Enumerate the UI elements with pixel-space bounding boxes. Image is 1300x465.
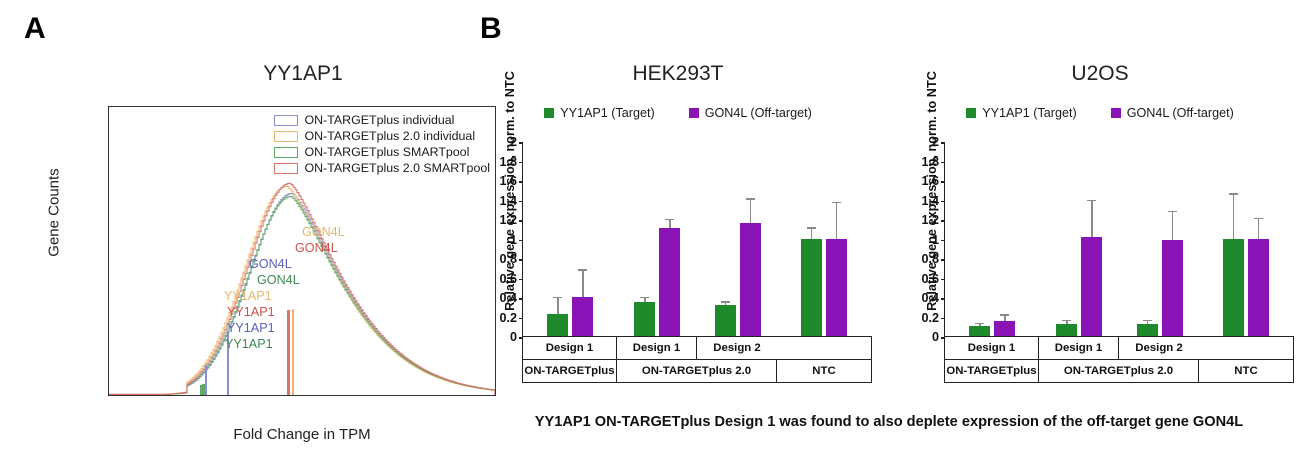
chart-category-tier-designs: Design 1Design 1Design 2	[522, 337, 872, 360]
histogram-gene-label: GON4L	[257, 273, 300, 287]
chart-plot-area: 00.20.40.60.811.21.41.61.82	[522, 142, 872, 337]
chart-error-bar	[1258, 219, 1259, 239]
chart-bar[interactable]	[659, 228, 680, 336]
chart-legend-item[interactable]: GON4L (Off-target)	[1111, 106, 1234, 120]
histogram-legend-label: ON-TARGETplus 2.0 individual	[305, 129, 476, 143]
histogram-x-tick-mark	[289, 395, 290, 396]
chart-error-bar-cap	[1000, 314, 1009, 315]
histogram-gene-label: YY1AP1	[227, 305, 275, 319]
histogram-curve	[109, 193, 495, 395]
chart-error-bar	[1066, 321, 1067, 323]
chart-error-bar	[644, 298, 645, 302]
chart-legend-item[interactable]: GON4L (Off-target)	[689, 106, 812, 120]
chart-design-label	[1199, 337, 1293, 359]
histogram-y-tick-mark	[108, 251, 109, 252]
chart-y-tick-label: 2	[477, 135, 517, 149]
chart-error-bar-cap	[1229, 193, 1238, 194]
chart-error-bar-cap	[807, 227, 816, 228]
histogram-y-tick-mark	[108, 179, 109, 180]
histogram-gene-label: GON4L	[249, 257, 292, 271]
histogram-gene-marker-line	[205, 365, 207, 395]
chart-error-bar-cap	[1087, 200, 1096, 201]
chart-bar-group	[1130, 142, 1190, 336]
chart-bar[interactable]	[715, 305, 736, 336]
chart-y-tick-label: 2	[899, 135, 939, 149]
chart-bar[interactable]	[969, 326, 990, 336]
chart-error-bar-cap	[721, 301, 730, 302]
chart-error-bar-cap	[553, 297, 562, 298]
chart-y-tick-label: 1.4	[899, 194, 939, 208]
chart-bar[interactable]	[1248, 239, 1269, 337]
histogram-gene-marker-line	[292, 309, 294, 395]
chart-y-tick-label: 1.2	[477, 213, 517, 227]
chart-error-bar-cap	[1062, 320, 1071, 321]
chart-error-bar	[750, 200, 751, 223]
histogram-gene-label: GON4L	[302, 225, 345, 239]
panel-a-letter: A	[24, 14, 46, 44]
panel-a-histogram: YY1AP1 Gene Counts 200017501500125010007…	[18, 62, 478, 442]
legend-swatch-icon	[274, 115, 298, 126]
chart-group-header: NTC	[1199, 360, 1293, 382]
chart-y-tick-label: 0.8	[899, 252, 939, 266]
chart-bar[interactable]	[1081, 237, 1102, 336]
chart-y-tick-label: 0.2	[899, 311, 939, 325]
chart-legend-label: YY1AP1 (Target)	[982, 106, 1077, 120]
histogram-gene-label: GON4L	[295, 241, 338, 255]
histogram-title: YY1AP1	[108, 62, 498, 86]
figure-caption: YY1AP1 ON-TARGETplus Design 1 was found …	[478, 414, 1300, 430]
chart-bar[interactable]	[1162, 240, 1183, 336]
chart-error-bar	[811, 229, 812, 239]
panel-b-letter: B	[480, 14, 502, 44]
chart-y-tick-label: 0.4	[477, 291, 517, 305]
histogram-legend-item[interactable]: ON-TARGETplus individual	[274, 113, 490, 127]
chart-legend-item[interactable]: YY1AP1 (Target)	[966, 106, 1077, 120]
chart-legend-label: GON4L (Off-target)	[705, 106, 812, 120]
chart-y-tick-label: 1.6	[477, 174, 517, 188]
chart-legend: YY1AP1 (Target)GON4L (Off-target)	[900, 106, 1300, 120]
chart-bar[interactable]	[634, 302, 655, 336]
chart-error-bar-cap	[1168, 211, 1177, 212]
chart-design-label: Design 1	[945, 337, 1039, 359]
chart-error-bar	[1091, 201, 1092, 236]
chart-y-tick-label: 0	[899, 330, 939, 344]
chart-error-bar-cap	[665, 219, 674, 220]
chart-design-label: Design 1	[1039, 337, 1119, 359]
histogram-legend: ON-TARGETplus individualON-TARGETplus 2.…	[274, 113, 490, 175]
chart-title: HEK293T	[478, 62, 878, 86]
chart-u2os: U2OS YY1AP1 (Target)GON4L (Off-target) R…	[900, 62, 1300, 407]
chart-bar-group	[627, 142, 687, 336]
chart-y-tick-label: 1.4	[477, 194, 517, 208]
chart-error-bar-cap	[1254, 218, 1263, 219]
chart-y-tick-label: 1.8	[477, 155, 517, 169]
histogram-gene-label: YY1AP1	[225, 337, 273, 351]
histogram-curve	[109, 186, 495, 395]
chart-error-bar	[1172, 212, 1173, 240]
chart-bar[interactable]	[801, 239, 822, 337]
histogram-legend-item[interactable]: ON-TARGETplus 2.0 individual	[274, 129, 490, 143]
histogram-y-tick-mark	[108, 359, 109, 360]
chart-legend-item[interactable]: YY1AP1 (Target)	[544, 106, 655, 120]
chart-design-label: Design 1	[617, 337, 697, 359]
chart-group-header: ON-TARGETplus 2.0	[617, 360, 777, 382]
chart-error-bar-cap	[746, 198, 755, 199]
chart-bar-group	[962, 142, 1022, 336]
chart-y-tick-label: 0.6	[477, 272, 517, 286]
chart-bar[interactable]	[547, 314, 568, 336]
chart-bar-group	[708, 142, 768, 336]
chart-legend-label: GON4L (Off-target)	[1127, 106, 1234, 120]
chart-error-bar-cap	[975, 323, 984, 324]
histogram-plot-area: 2000175015001250100075050025000100101 GO…	[108, 106, 496, 396]
chart-error-bar-cap	[1143, 320, 1152, 321]
histogram-x-axis-label: Fold Change in TPM	[108, 426, 496, 443]
chart-y-tick-label: 0.8	[477, 252, 517, 266]
legend-swatch-icon	[274, 163, 298, 174]
histogram-legend-item[interactable]: ON-TARGETplus 2.0 SMARTpool	[274, 161, 490, 175]
chart-title: U2OS	[900, 62, 1300, 86]
histogram-curve	[109, 183, 495, 395]
chart-y-tick-label: 1.2	[899, 213, 939, 227]
chart-error-bar	[1233, 195, 1234, 239]
chart-plot-area: 00.20.40.60.811.21.41.61.82	[944, 142, 1294, 337]
chart-y-tick-label: 0.4	[899, 291, 939, 305]
histogram-y-tick-mark	[108, 143, 109, 144]
chart-category-tier-designs: Design 1Design 1Design 2	[944, 337, 1294, 360]
histogram-y-tick-mark	[108, 395, 109, 396]
chart-error-bar	[1147, 321, 1148, 324]
chart-y-tick-label: 0.6	[899, 272, 939, 286]
chart-group-header: ON-TARGETplus 2.0	[1039, 360, 1199, 382]
histogram-y-axis-label: Gene Counts	[46, 73, 63, 353]
chart-design-label: Design 2	[1119, 337, 1199, 359]
legend-swatch-icon	[274, 147, 298, 158]
chart-error-bar	[979, 324, 980, 326]
chart-hek293t: HEK293T YY1AP1 (Target)GON4L (Off-target…	[478, 62, 878, 407]
histogram-y-tick-mark	[108, 215, 109, 216]
chart-bar-group	[794, 142, 854, 336]
histogram-gene-marker-line	[202, 384, 204, 395]
legend-swatch-icon	[689, 108, 699, 118]
chart-group-header: ON-TARGETplus	[523, 360, 617, 382]
histogram-legend-label: ON-TARGETplus SMARTpool	[305, 145, 470, 159]
chart-error-bar	[582, 271, 583, 297]
chart-error-bar	[557, 298, 558, 314]
legend-swatch-icon	[1111, 108, 1121, 118]
histogram-legend-label: ON-TARGETplus 2.0 SMARTpool	[305, 161, 490, 175]
chart-category-tier-groups: ON-TARGETplusON-TARGETplus 2.0NTC	[522, 360, 872, 383]
chart-design-label	[777, 337, 871, 359]
chart-error-bar	[669, 220, 670, 228]
chart-error-bar-cap	[640, 297, 649, 298]
histogram-gene-marker-line	[287, 310, 289, 395]
legend-swatch-icon	[544, 108, 554, 118]
chart-design-label: Design 2	[697, 337, 777, 359]
chart-error-bar-cap	[832, 202, 841, 203]
chart-bar[interactable]	[826, 239, 847, 337]
chart-bar[interactable]	[740, 223, 761, 336]
histogram-legend-label: ON-TARGETplus individual	[305, 113, 455, 127]
chart-error-bar-cap	[578, 269, 587, 270]
chart-bar[interactable]	[994, 321, 1015, 336]
chart-error-bar	[725, 303, 726, 305]
chart-y-tick-label: 1	[899, 233, 939, 247]
histogram-y-tick-mark	[108, 323, 109, 324]
histogram-x-tick-mark	[168, 395, 169, 396]
chart-y-tick-label: 1.6	[899, 174, 939, 188]
chart-bar[interactable]	[1056, 324, 1077, 336]
chart-legend-label: YY1AP1 (Target)	[560, 106, 655, 120]
chart-category-tier-groups: ON-TARGETplusON-TARGETplus 2.0NTC	[944, 360, 1294, 383]
chart-group-header: NTC	[777, 360, 871, 382]
chart-y-tick-label: 1.8	[899, 155, 939, 169]
chart-error-bar	[1004, 316, 1005, 322]
chart-y-tick-label: 1	[477, 233, 517, 247]
chart-bars	[523, 142, 872, 336]
panel-b-barcharts: HEK293T YY1AP1 (Target)GON4L (Off-target…	[478, 62, 1300, 462]
histogram-gene-label: YY1AP1	[227, 321, 275, 335]
chart-bar-group	[1216, 142, 1276, 336]
chart-bars	[945, 142, 1294, 336]
chart-legend: YY1AP1 (Target)GON4L (Off-target)	[478, 106, 878, 120]
chart-group-header: ON-TARGETplus	[945, 360, 1039, 382]
histogram-gene-label: YY1AP1	[224, 289, 272, 303]
chart-error-bar	[836, 203, 837, 238]
chart-bar-group	[1049, 142, 1109, 336]
chart-bar-group	[540, 142, 600, 336]
histogram-legend-item[interactable]: ON-TARGETplus SMARTpool	[274, 145, 490, 159]
chart-bar[interactable]	[572, 297, 593, 336]
histogram-y-tick-mark	[108, 107, 109, 108]
chart-bar[interactable]	[1223, 239, 1244, 337]
chart-y-tick-label: 0	[477, 330, 517, 344]
chart-y-tick-label: 0.2	[477, 311, 517, 325]
chart-bar[interactable]	[1137, 324, 1158, 336]
legend-swatch-icon	[966, 108, 976, 118]
chart-design-label: Design 1	[523, 337, 617, 359]
histogram-y-tick-mark	[108, 287, 109, 288]
legend-swatch-icon	[274, 131, 298, 142]
